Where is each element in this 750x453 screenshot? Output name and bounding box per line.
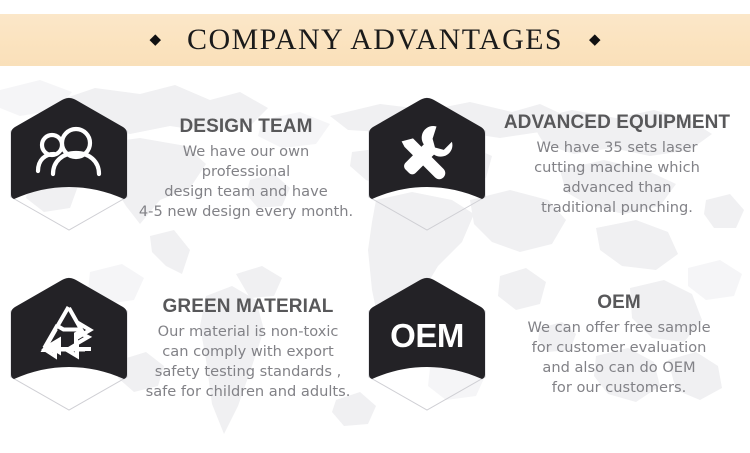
- body-line: for our customers.: [492, 378, 746, 398]
- body-line: professional: [128, 162, 364, 182]
- section-header-band: ◆ COMPANY ADVANTAGES ◆: [0, 14, 750, 66]
- hex-badge-green-material: [10, 270, 128, 412]
- body-line: We have 35 sets laser: [488, 138, 746, 158]
- body-line: and also can do OEM: [492, 358, 746, 378]
- card-text-design-team: DESIGN TEAM We have our own professional…: [128, 90, 370, 222]
- card-title: OEM: [492, 292, 746, 314]
- advantage-card-design-team: DESIGN TEAM We have our own professional…: [10, 90, 370, 232]
- icon-slot-green-material: [10, 277, 128, 411]
- card-body: We have 35 sets laser cutting machine wh…: [488, 138, 746, 219]
- card-body: We have our own professional design team…: [128, 142, 364, 223]
- diamond-left-icon: ◆: [149, 32, 161, 47]
- body-line: cutting machine which: [488, 158, 746, 178]
- card-text-green-material: GREEN MATERIAL Our material is non-toxic…: [128, 270, 370, 402]
- tools-icon: [395, 123, 459, 187]
- icon-slot-oem: OEM: [368, 277, 486, 411]
- body-line: design team and have: [128, 182, 364, 202]
- advantage-card-oem: OEM OEM We can offer free sample for cus…: [368, 270, 746, 412]
- card-text-advanced-equipment: ADVANCED EQUIPMENT We have 35 sets laser…: [486, 90, 746, 218]
- advantage-card-advanced-equipment: ADVANCED EQUIPMENT We have 35 sets laser…: [368, 90, 746, 232]
- card-body: Our material is non-toxic can comply wit…: [128, 322, 368, 403]
- icon-slot-design-team: [10, 97, 128, 231]
- people-icon: [35, 126, 103, 184]
- advantage-card-green-material: GREEN MATERIAL Our material is non-toxic…: [10, 270, 370, 412]
- card-title: GREEN MATERIAL: [128, 296, 368, 318]
- recycle-icon: [35, 304, 103, 366]
- card-body: We can offer free sample for customer ev…: [492, 318, 746, 399]
- body-line: safe for children and adults.: [128, 382, 368, 402]
- body-line: for customer evaluation: [492, 338, 746, 358]
- icon-slot-advanced-equipment: [368, 97, 486, 231]
- card-title: DESIGN TEAM: [128, 116, 364, 138]
- body-line: safety testing standards ,: [128, 362, 368, 382]
- hex-badge-oem: OEM: [368, 270, 486, 412]
- advantages-grid: DESIGN TEAM We have our own professional…: [0, 78, 750, 453]
- page-title: COMPANY ADVANTAGES: [187, 25, 563, 55]
- card-text-oem: OEM We can offer free sample for custome…: [486, 270, 746, 398]
- body-line: We can offer free sample: [492, 318, 746, 338]
- header-inner: ◆ COMPANY ADVANTAGES ◆: [149, 25, 600, 55]
- hex-badge-design-team: [10, 90, 128, 232]
- card-title: ADVANCED EQUIPMENT: [488, 112, 746, 134]
- hex-badge-advanced-equipment: [368, 90, 486, 232]
- oem-text-icon: OEM: [390, 319, 464, 352]
- company-advantages-banner: ◆ COMPANY ADVANTAGES ◆: [0, 0, 750, 453]
- body-line: can comply with export: [128, 342, 368, 362]
- body-line: traditional punching.: [488, 198, 746, 218]
- body-line: advanced than: [488, 178, 746, 198]
- body-line: 4-5 new design every month.: [128, 202, 364, 222]
- body-line: Our material is non-toxic: [128, 322, 368, 342]
- body-line: We have our own: [128, 142, 364, 162]
- diamond-right-icon: ◆: [589, 32, 601, 47]
